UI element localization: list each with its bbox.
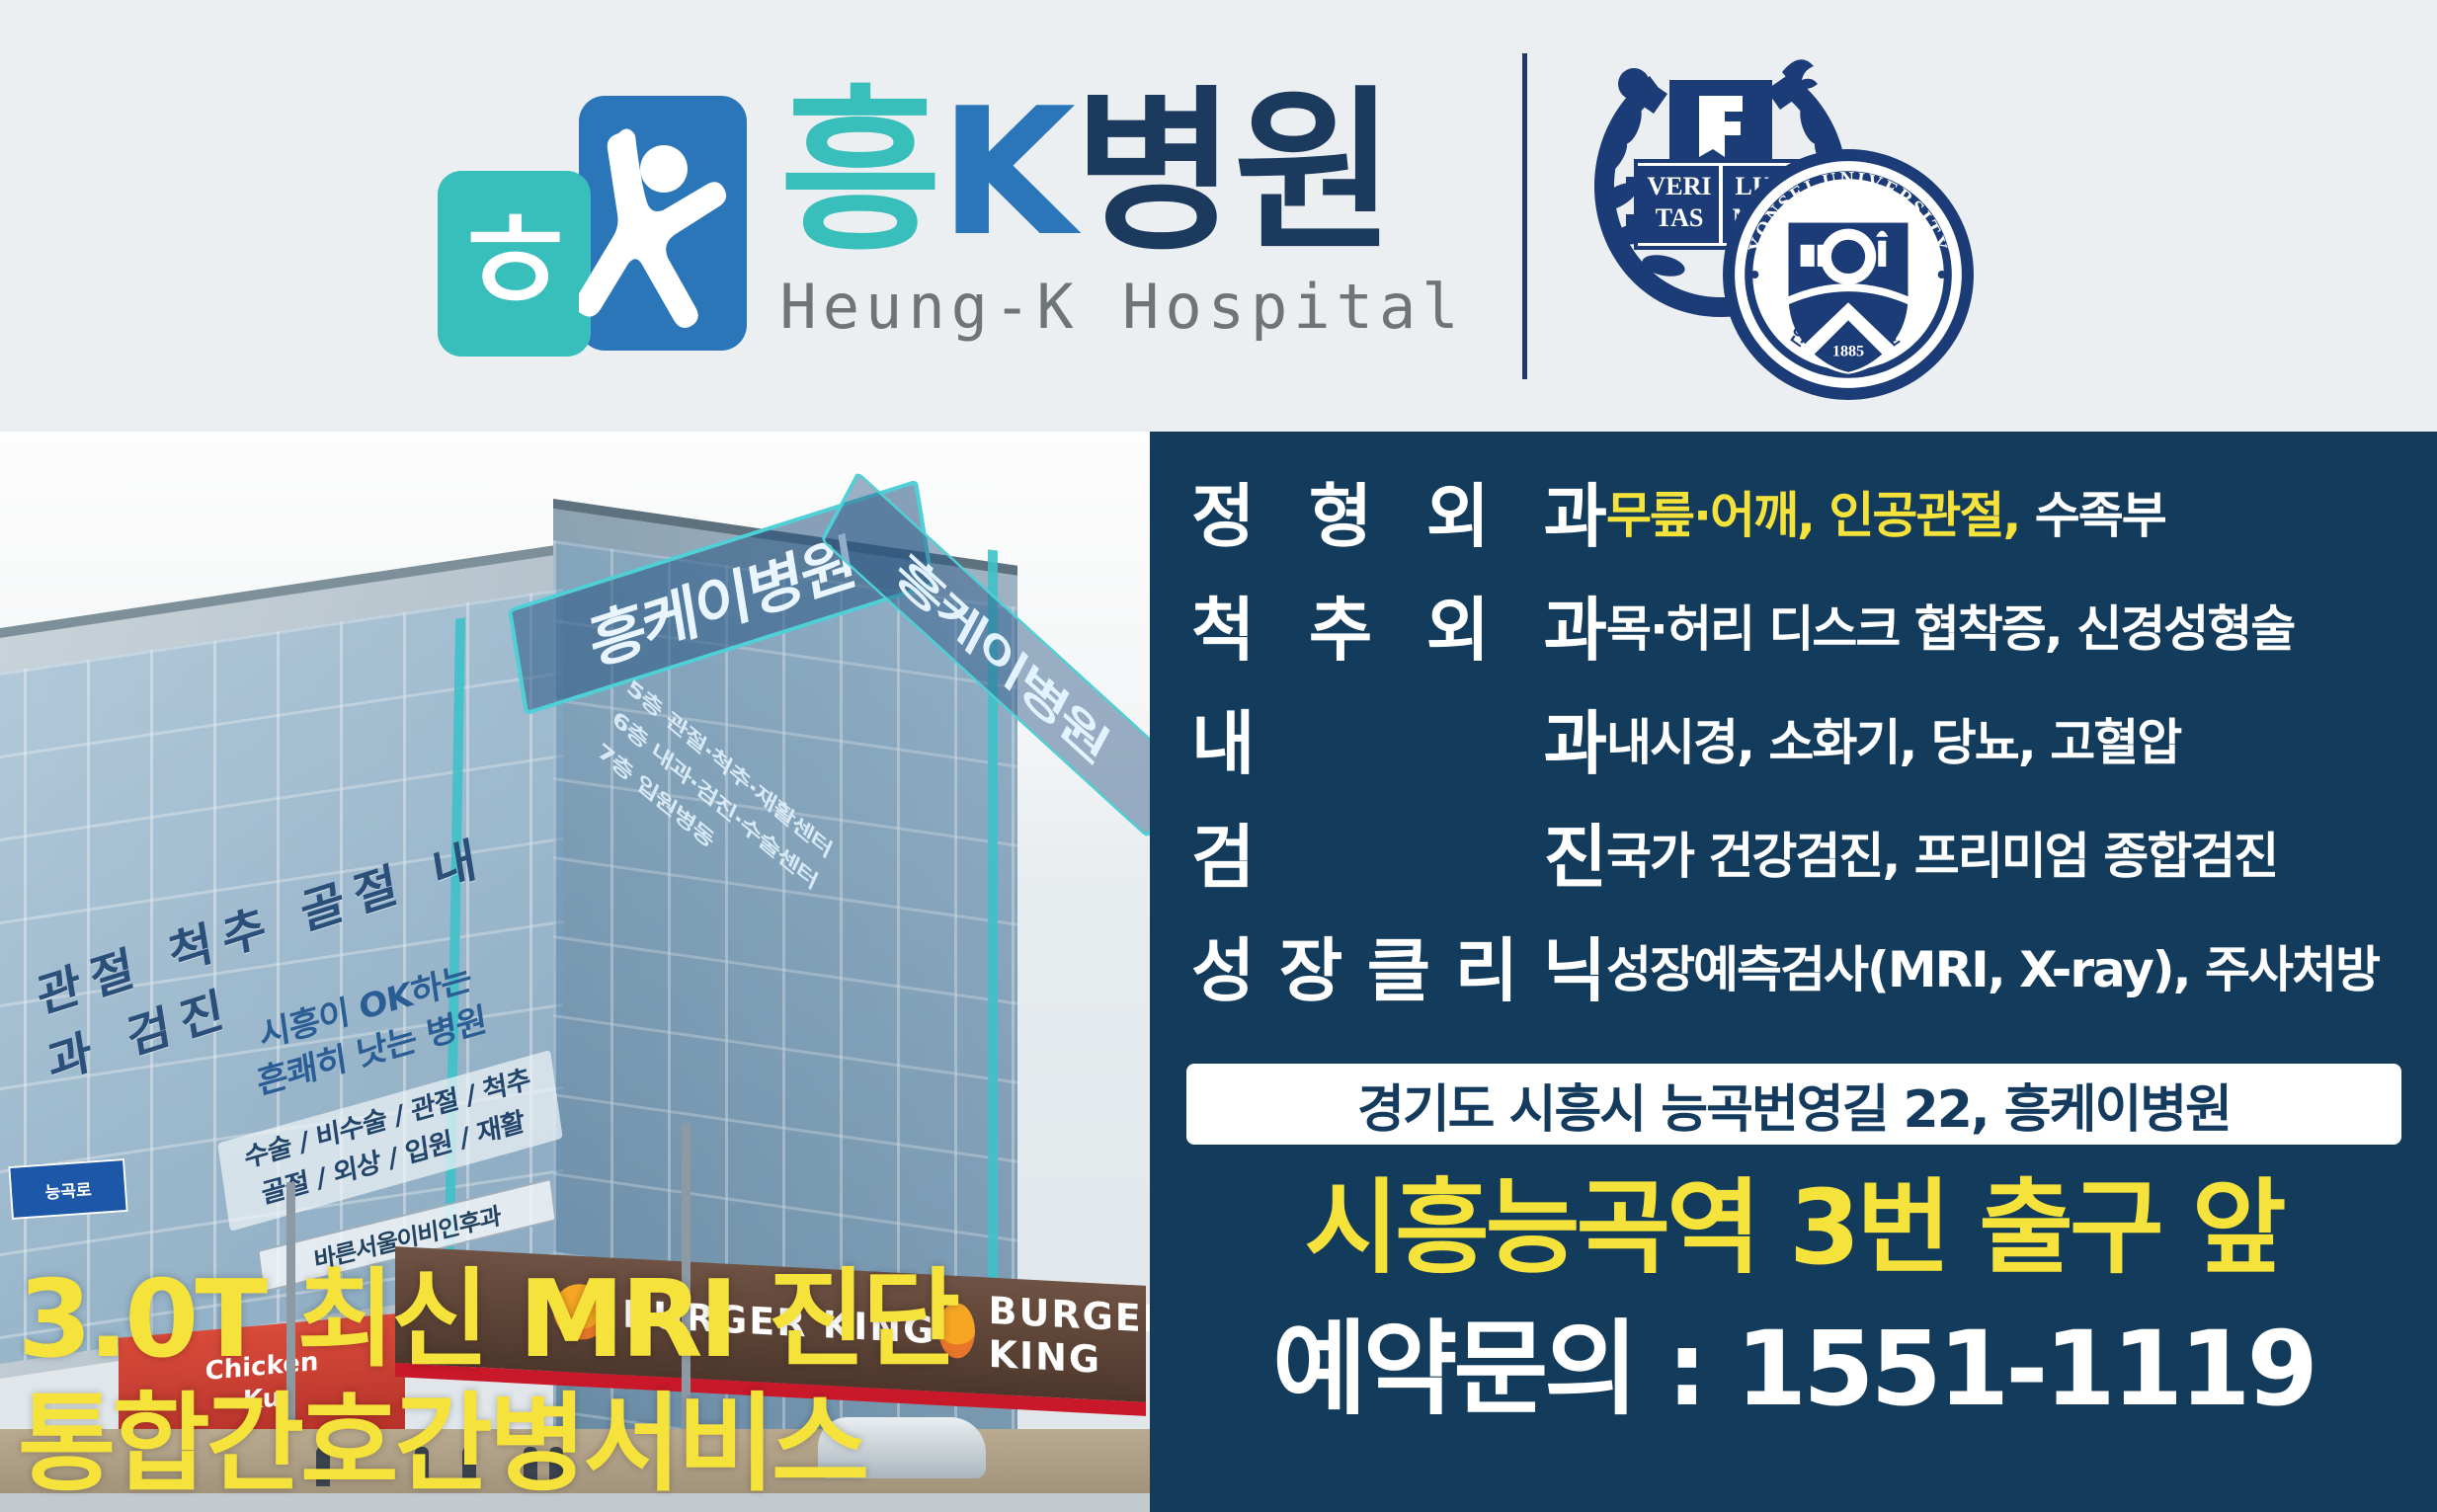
- dept-char: 정: [1191, 461, 1254, 561]
- hospital-address-box: 경기도 시흥시 능곡번영길 22, 흥케이병원: [1186, 1064, 2401, 1145]
- dept-char: 검: [1191, 802, 1254, 902]
- crest-motto-tas: TAS: [1655, 203, 1703, 232]
- crest-motto-veri: VERI: [1647, 172, 1711, 200]
- department-row-orthopedics: 정 형 외 과 무릎·어깨, 인공관절, 수족부: [1191, 461, 2403, 561]
- header-divider: [1522, 53, 1527, 379]
- dept-char: 외: [1426, 575, 1489, 675]
- dept-char: 추: [1309, 575, 1371, 675]
- department-desc-orthopedics: 무릎·어깨, 인공관절, 수족부: [1606, 476, 2165, 547]
- reservation-phone-number[interactable]: 예약문의 : 1551-1119: [1150, 1307, 2437, 1432]
- dept-char: 외: [1426, 461, 1489, 561]
- department-list: 정 형 외 과 무릎·어깨, 인공관절, 수족부 척 추 외 과 목·허리 디스…: [1150, 432, 2437, 1015]
- dept-desc-rest: 수족부: [2019, 487, 2164, 544]
- dept-char: 진: [1544, 802, 1606, 902]
- department-row-spine: 척 추 외 과 목·허리 디스크 협착증, 신경성형술: [1191, 575, 2403, 675]
- department-name-internal-medicine: 내 과: [1191, 688, 1606, 788]
- headline-mri: 3.0T 최신 MRI 진단: [18, 1258, 956, 1382]
- department-desc-spine: 목·허리 디스크 협착증, 신경성형술: [1606, 590, 2294, 661]
- hospital-wordmark: 흥K병원 Heung-K Hospital: [779, 89, 1464, 342]
- department-row-growth-clinic: 성 장 클 리 닉 성장예측검사(MRI, X-ray), 주사처방: [1191, 915, 2403, 1015]
- photo-headline-overlay: 3.0T 최신 MRI 진단 통합간호간병서비스: [18, 1258, 956, 1506]
- dept-char: 과: [1544, 575, 1606, 675]
- wordmark-heung: 흥: [779, 89, 939, 256]
- burger-king-sign-side: BURGER KING: [938, 1286, 1150, 1386]
- header-bar: ㅎ 흥K병원 Heung-K Hospital: [0, 0, 2437, 432]
- department-name-spine: 척 추 외 과: [1191, 575, 1606, 675]
- wordmark-byeongwon: 병원: [1074, 89, 1394, 256]
- department-name-orthopedics: 정 형 외 과: [1191, 461, 1606, 561]
- wordmark-k: K: [939, 89, 1074, 256]
- call-to-action-block: 시흥능곡역 3번 출구 앞 예약문의 : 1551-1119: [1150, 1167, 2437, 1432]
- dept-char: 닉: [1543, 915, 1606, 1015]
- dept-char: 리: [1455, 915, 1518, 1015]
- hospital-advertisement-banner: ㅎ 흥K병원 Heung-K Hospital: [0, 0, 2437, 1512]
- subway-exit-directions: 시흥능곡역 3번 출구 앞: [1150, 1167, 2437, 1289]
- dept-char: 형: [1309, 461, 1371, 561]
- headline-nursing-service: 통합간호간병서비스: [18, 1383, 956, 1506]
- dept-char: 내: [1191, 688, 1254, 788]
- department-row-internal-medicine: 내 과 내시경, 소화기, 당뇨, 고혈압: [1191, 688, 2403, 788]
- dept-desc-highlight: 무릎·어깨, 인공관절,: [1606, 487, 2019, 544]
- running-person-icon: [579, 96, 747, 351]
- dept-char: 성: [1191, 915, 1255, 1015]
- department-desc-checkup: 국가 건강검진, 프리미엄 종합검진: [1606, 817, 2277, 888]
- hospital-logo-mark: ㅎ: [426, 68, 752, 364]
- department-desc-internal-medicine: 내시경, 소화기, 당뇨, 고혈압: [1606, 703, 2180, 774]
- street-name-sign: 능곡로: [8, 1158, 127, 1220]
- department-info-panel: 정 형 외 과 무릎·어깨, 인공관절, 수족부 척 추 외 과 목·허리 디스…: [1150, 432, 2437, 1512]
- hospital-building-photo: 흥케이병원 흥케이병원 관절 척추 골절 내과 검진 시흥이 OK하는 흔쾌히 …: [0, 432, 1150, 1512]
- department-desc-growth-clinic: 성장예측검사(MRI, X-ray), 주사처방: [1606, 930, 2379, 1001]
- yonsei-university-seal-icon: YONSEI UNIVERSITY 연세대학교: [1719, 145, 1978, 404]
- department-row-checkup: 검 진 국가 건강검진, 프리미엄 종합검진: [1191, 802, 2403, 902]
- dept-char: 과: [1544, 461, 1606, 561]
- dept-char: 과: [1544, 688, 1606, 788]
- department-name-checkup: 검 진: [1191, 802, 1606, 902]
- seal-founding-year: 1885: [1832, 343, 1864, 359]
- partner-university-emblems: VERI TAS LUX MEA YO: [1573, 29, 1988, 404]
- department-name-growth-clinic: 성 장 클 리 닉: [1191, 915, 1606, 1015]
- dept-char: 척: [1191, 575, 1254, 675]
- wordmark-subtitle: Heung-K Hospital: [779, 271, 1464, 343]
- dept-char: 장: [1279, 915, 1342, 1015]
- logo-hieut-glyph: ㅎ: [438, 171, 591, 357]
- dept-char: 클: [1367, 915, 1430, 1015]
- burger-king-label-2: BURGER KING: [989, 1289, 1150, 1387]
